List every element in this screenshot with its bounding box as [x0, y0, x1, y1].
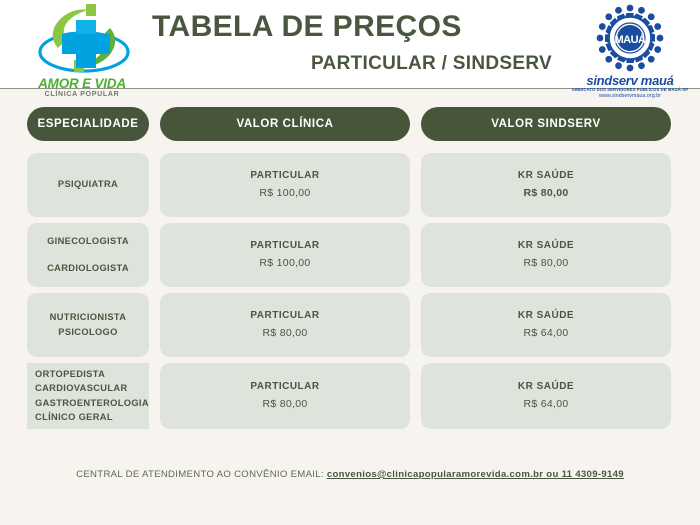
- clinic-price-cell: PARTICULAR R$ 80,00: [160, 363, 410, 429]
- specialty-list: GINECOLOGISTA CARDIOLOGISTA: [47, 235, 129, 275]
- union-logo-url: www.sindservmaua.org.br: [570, 93, 690, 99]
- union-logo: MAUÁ sindserv mauá SINDICATO DOS SERVIDO…: [570, 2, 690, 102]
- specialty-list: NUTRICIONISTA PSICOLOGO: [50, 311, 127, 340]
- specialty-list: PSIQUIATRA: [58, 178, 118, 191]
- plan-label: PARTICULAR: [250, 380, 319, 395]
- table-row: PSIQUIATRA PARTICULAR R$ 100,00 KR SAÚDE…: [0, 153, 700, 217]
- sindserv-price-cell: KR SAÚDE R$ 64,00: [421, 363, 671, 429]
- plan-label: KR SAÚDE: [518, 380, 574, 395]
- price-value: R$ 80,00: [523, 186, 568, 201]
- price-value: R$ 100,00: [259, 186, 310, 201]
- sindserv-price-cell: KR SAÚDE R$ 80,00: [421, 223, 671, 287]
- column-header-valor-sindserv: VALOR SINDSERV: [421, 107, 671, 141]
- plan-label: PARTICULAR: [250, 309, 319, 324]
- page-subtitle: PARTICULAR / SINDSERV: [152, 53, 552, 75]
- price-value: R$ 64,00: [523, 397, 568, 412]
- specialty-cell: ORTOPEDISTA CARDIOVASCULAR GASTROENTEROL…: [27, 363, 149, 429]
- plan-label: KR SAÚDE: [518, 309, 574, 324]
- price-value: R$ 80,00: [262, 326, 307, 341]
- clinic-price-cell: PARTICULAR R$ 100,00: [160, 153, 410, 217]
- table-header-row: ESPECIALIDADE VALOR CLÍNICA VALOR SINDSE…: [0, 107, 700, 141]
- footer-label: CENTRAL DE ATENDIMENTO AO CONVÊNIO EMAIL…: [76, 469, 324, 480]
- column-header-valor-clinica: VALOR CLÍNICA: [160, 107, 410, 141]
- table-row: NUTRICIONISTA PSICOLOGO PARTICULAR R$ 80…: [0, 293, 700, 357]
- sindserv-price-cell: KR SAÚDE R$ 64,00: [421, 293, 671, 357]
- footer-contact: CENTRAL DE ATENDIMENTO AO CONVÊNIO EMAIL…: [0, 469, 700, 480]
- clinic-price-cell: PARTICULAR R$ 80,00: [160, 293, 410, 357]
- table-row: ORTOPEDISTA CARDIOVASCULAR GASTROENTEROL…: [0, 363, 700, 429]
- column-header-especialidade: ESPECIALIDADE: [27, 107, 149, 141]
- svg-text:MAUÁ: MAUÁ: [615, 33, 647, 46]
- plan-label: KR SAÚDE: [518, 239, 574, 254]
- plan-label: PARTICULAR: [250, 169, 319, 184]
- price-value: R$ 80,00: [523, 256, 568, 271]
- footer-contact-link[interactable]: convenios@clinicapopularamorevida.com.br…: [327, 469, 624, 480]
- clinic-logo-tagline: CLÍNICA POPULAR: [20, 91, 144, 98]
- sindserv-price-cell: KR SAÚDE R$ 80,00: [421, 153, 671, 217]
- union-logo-name: sindserv mauá: [570, 73, 690, 88]
- medical-cross-logo-icon: [36, 2, 132, 76]
- plan-label: PARTICULAR: [250, 239, 319, 254]
- specialty-cell: GINECOLOGISTA CARDIOLOGISTA: [27, 223, 149, 287]
- sindserv-sunburst-seal-icon: MAUÁ: [590, 2, 670, 74]
- clinic-price-cell: PARTICULAR R$ 100,00: [160, 223, 410, 287]
- clinic-logo: AMOR E VIDA CLÍNICA POPULAR: [20, 2, 144, 102]
- page-title: TABELA DE PREÇOS: [152, 10, 552, 44]
- table-row: GINECOLOGISTA CARDIOLOGISTA PARTICULAR R…: [0, 223, 700, 287]
- union-logo-tagline: SINDICATO DOS SERVIDORES PÚBLICOS DE MAU…: [570, 87, 690, 92]
- specialty-cell: PSIQUIATRA: [27, 153, 149, 217]
- clinic-logo-name: AMOR E VIDA: [20, 76, 144, 91]
- price-value: R$ 100,00: [259, 256, 310, 271]
- specialty-list: ORTOPEDISTA CARDIOVASCULAR GASTROENTEROL…: [35, 368, 149, 425]
- plan-label: KR SAÚDE: [518, 169, 574, 184]
- price-value: R$ 64,00: [523, 326, 568, 341]
- specialty-cell: NUTRICIONISTA PSICOLOGO: [27, 293, 149, 357]
- price-value: R$ 80,00: [262, 397, 307, 412]
